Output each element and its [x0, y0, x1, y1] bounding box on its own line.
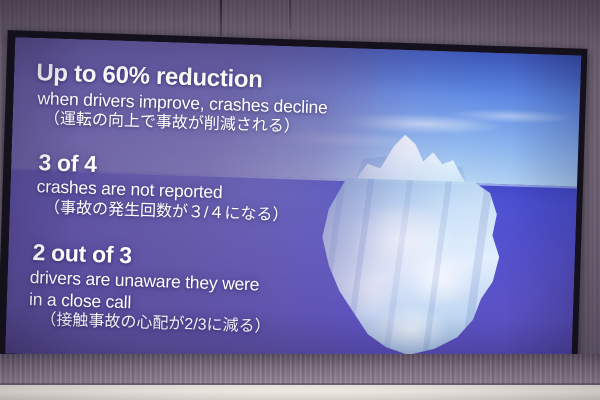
slide-text-content: Up to 60% reduction when drivers improve…: [5, 37, 581, 371]
presentation-slide: Up to 60% reduction when drivers improve…: [5, 37, 581, 371]
curtain-seam: [289, 0, 291, 30]
slide-block-1: Up to 60% reduction when drivers improve…: [35, 60, 581, 147]
slide-block-2: 3 of 4 crashes are not reported （事故の発生回数…: [32, 150, 578, 236]
floor-band: [0, 385, 600, 400]
lower-curtain: [0, 354, 600, 386]
screen-frame: Up to 60% reduction when drivers improve…: [0, 30, 587, 381]
projection-screen: Up to 60% reduction when drivers improve…: [0, 22, 600, 381]
slide-block-3: 2 out of 3 drivers are unaware they were…: [28, 240, 575, 348]
